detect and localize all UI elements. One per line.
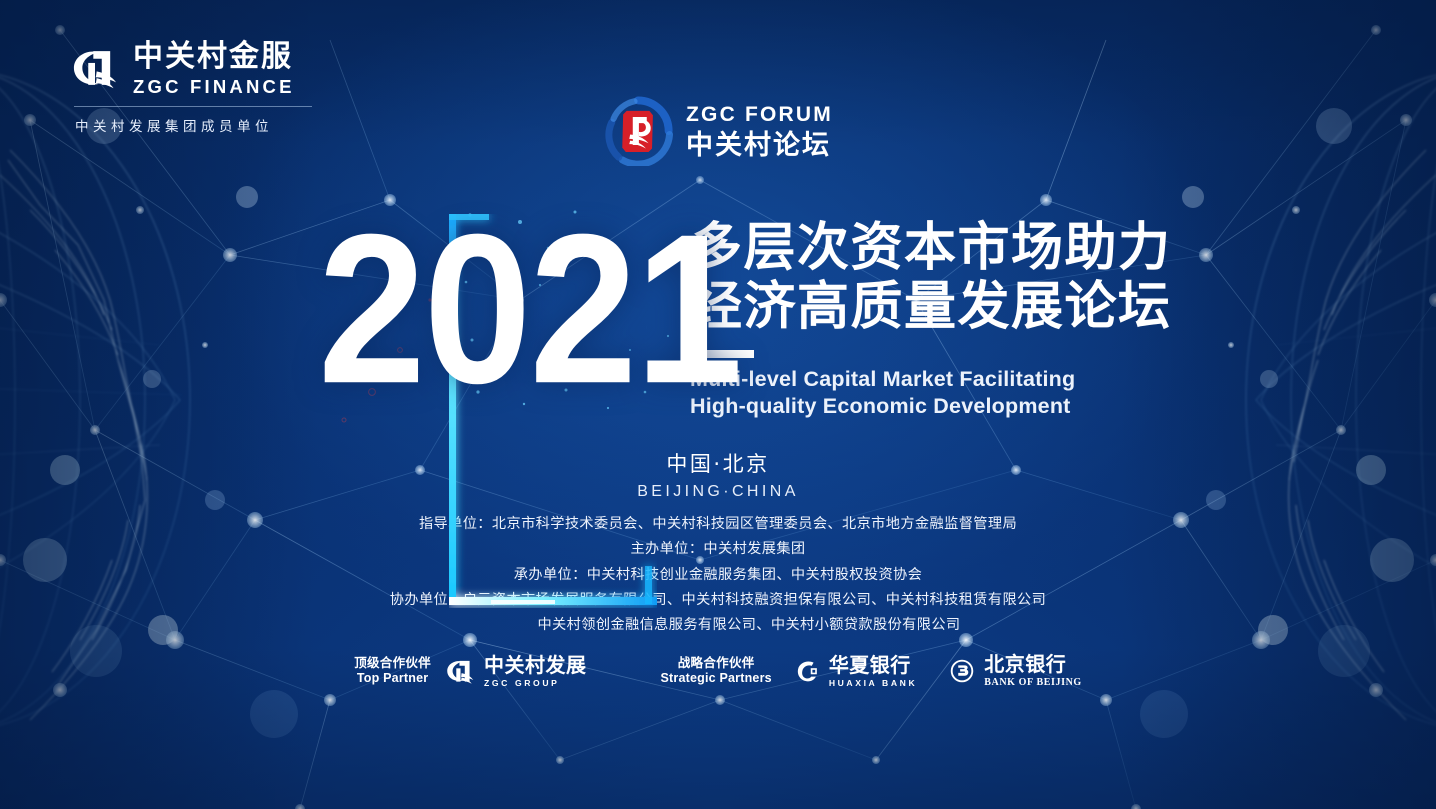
zgc-finance-tagline: 中关村发展集团成员单位 [68, 115, 318, 135]
partner-name-cn: 北京银行 [984, 654, 1082, 674]
organizer-line: 协办单位：启元资本市场发展服务有限公司、中关村科技融资担保有限公司、中关村科技租… [0, 588, 1436, 613]
hero-titles: 多层次资本市场助力 经济高质量发展论坛 Multi-level Capital … [690, 219, 1172, 420]
top-partner-group: 顶级合作伙伴 Top Partner 中关村发展 ZGC GROUP [354, 654, 586, 688]
top-partner-label-en: Top Partner [354, 671, 431, 687]
partner-logo-huaxia-bank[interactable]: 华夏银行 HUAXIA BANK [792, 655, 917, 688]
organizer-line: 主办单位：中关村发展集团 [0, 537, 1436, 562]
poster-canvas: 中关村金服 ZGC FINANCE 中关村发展集团成员单位 ZGC FORUM [0, 0, 1436, 809]
organizer-line: 指导单位：北京市科学技术委员会、中关村科技园区管理委员会、北京市地方金融监督管理… [0, 512, 1436, 537]
zgc-forum-logo: ZGC FORUM 中关村论坛 [603, 96, 833, 166]
top-partner-label-cn: 顶级合作伙伴 [354, 655, 431, 671]
title-cn-line-1: 多层次资本市场助力 [690, 219, 1172, 278]
location-cn: 中国·北京 [0, 448, 1436, 478]
zgc-group-mark-icon [443, 654, 477, 688]
partner-name-cn: 中关村发展 [484, 655, 587, 675]
partner-name-cn: 华夏银行 [829, 655, 917, 675]
bokeh-dot [1316, 108, 1352, 144]
zgc-finance-logo: 中关村金服 ZGC FINANCE 中关村发展集团成员单位 [68, 40, 318, 135]
organizer-line: 承办单位：中关村科技创业金融服务集团、中关村股权投资协会 [0, 563, 1436, 588]
organizer-list: 指导单位：北京市科学技术委员会、中关村科技园区管理委员会、北京市地方金融监督管理… [0, 512, 1436, 638]
bokeh-dot [250, 690, 298, 738]
huaxia-bank-mark-icon [792, 656, 822, 686]
strategic-partner-label: 战略合作伙伴 Strategic Partners [661, 655, 772, 686]
hero-block: 2021 多层次资本市场助力 经济高质量发展论坛 Multi-level Cap… [0, 205, 1436, 415]
strategic-partner-label-cn: 战略合作伙伴 [661, 655, 772, 671]
organizer-line: 中关村领创金融信息服务有限公司、中关村小额贷款股份有限公司 [0, 613, 1436, 638]
strategic-partner-label-en: Strategic Partners [661, 671, 772, 687]
zgc-forum-name-cn: 中关村论坛 [686, 132, 833, 159]
title-cn-line-2: 经济高质量发展论坛 [690, 278, 1172, 337]
zgc-finance-mark-icon [68, 41, 122, 95]
partner-logo-zgc-group[interactable]: 中关村发展 ZGC GROUP [443, 654, 587, 688]
top-partner-label: 顶级合作伙伴 Top Partner [354, 655, 431, 686]
location-en: BEIJING·CHINA [0, 483, 1436, 501]
partner-name-en: HUAXIA BANK [829, 679, 917, 688]
zgc-forum-seal-icon [603, 96, 673, 166]
location-block: 中国·北京 BEIJING·CHINA [0, 448, 1436, 501]
partner-logo-bank-of-beijing[interactable]: 北京银行 BANK OF BEIJING [947, 654, 1082, 688]
partner-name-en: BANK OF BEIJING [984, 678, 1082, 688]
strategic-partner-group: 战略合作伙伴 Strategic Partners 华夏银行 HUAXIA BA… [661, 654, 1082, 688]
title-en-line-2: High-quality Economic Development [690, 393, 1172, 420]
title-en-line-1: Multi-level Capital Market Facilitating [690, 366, 1172, 393]
zgc-finance-name-en: ZGC FINANCE [133, 78, 295, 97]
partner-bar: 顶级合作伙伴 Top Partner 中关村发展 ZGC GROUP [0, 654, 1436, 688]
zgc-forum-name-en: ZGC FORUM [686, 104, 833, 125]
bank-of-beijing-mark-icon [947, 656, 977, 686]
partner-name-en: ZGC GROUP [484, 679, 587, 688]
bokeh-dot [1140, 690, 1188, 738]
logo-divider [74, 106, 312, 107]
year-2021: 2021 [318, 203, 741, 416]
zgc-finance-name-cn: 中关村金服 [133, 42, 295, 72]
